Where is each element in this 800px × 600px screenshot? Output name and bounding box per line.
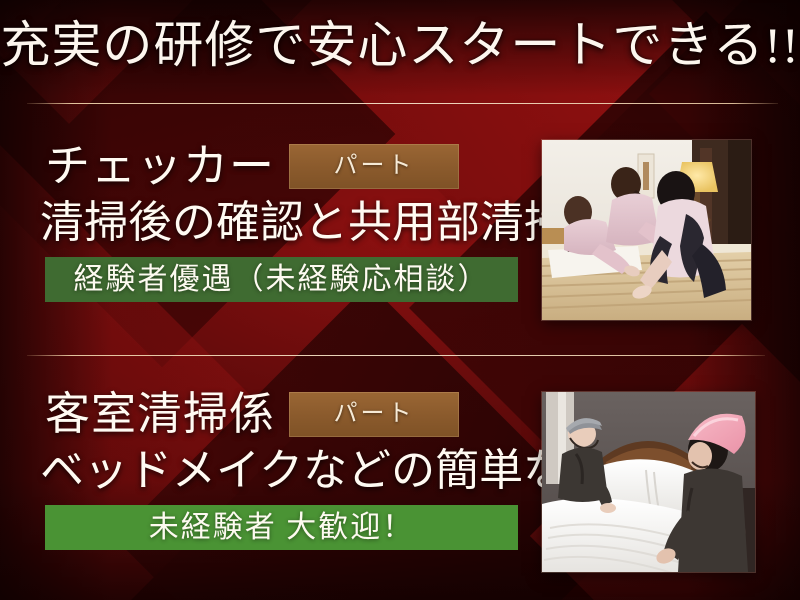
employment-type-label: パート [334, 402, 415, 426]
photo-housekeepers-white-bed-image [542, 392, 755, 572]
job-description: ベッドメイクなどの簡単な清掃 [0, 446, 540, 495]
headline: 充実の研修で安心スタートできる!! [0, 18, 800, 72]
photo-housekeepers-white-bed [542, 392, 755, 572]
job-highlight-label: 経験者優遇（未経験応相談） [74, 265, 490, 295]
employment-type-label: パート [334, 154, 415, 178]
job-header: 客室清掃係 パート [0, 388, 540, 440]
job-highlight-banner: 未経験者 大歓迎！ [45, 505, 518, 550]
job-listing-checker: チェッカー パート 清掃後の確認と共用部清掃 経験者優遇（未経験応相談） [0, 140, 540, 302]
recruitment-banner: 充実の研修で安心スタートできる!! チェッカー パート 清掃後の確認と共用部清掃… [0, 0, 800, 600]
job-highlight-label: 未経験者 大歓迎！ [149, 513, 415, 543]
job-description: 清掃後の確認と共用部清掃 [0, 198, 540, 247]
photo-bed-making-training [542, 140, 751, 320]
photo-bed-making-training-image [542, 140, 751, 320]
divider-middle [27, 355, 765, 356]
job-listing-room-cleaner: 客室清掃係 パート ベッドメイクなどの簡単な清掃 未経験者 大歓迎！ [0, 388, 540, 550]
job-header: チェッカー パート [0, 140, 540, 192]
job-highlight-banner: 経験者優遇（未経験応相談） [45, 257, 518, 302]
employment-type-badge: パート [289, 392, 459, 437]
job-title: チェッカー [45, 144, 275, 189]
divider-top [27, 103, 778, 104]
job-title: 客室清掃係 [45, 392, 275, 437]
employment-type-badge: パート [289, 144, 459, 189]
